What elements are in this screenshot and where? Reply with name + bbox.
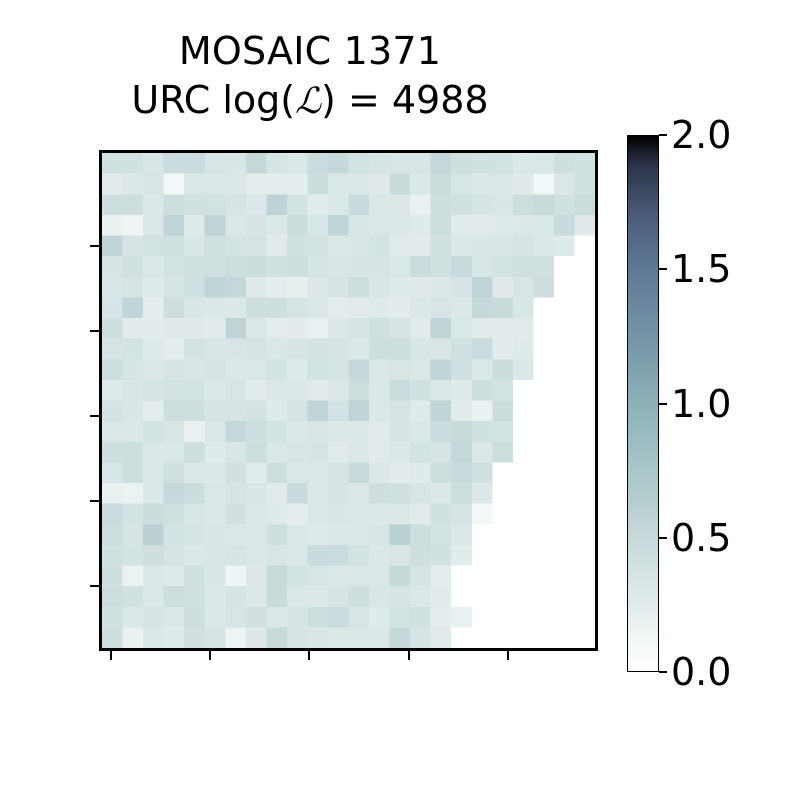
colorbar-tick-2 [659,403,667,405]
title-block: MOSAIC 1371 URC log(ℒ) = 4988 [0,28,620,126]
colorbar-tick-1 [659,268,667,270]
x-axis-tick-3 [408,651,410,660]
colorbar-gradient [627,135,659,672]
colorbar-tick-label-3: 0.5 [671,519,731,557]
heatmap-axes[interactable] [99,150,598,651]
x-axis-tick-0 [110,651,112,660]
y-axis-tick-2 [90,415,99,417]
page-title: MOSAIC 1371 [0,28,620,74]
y-axis-tick-1 [90,330,99,332]
y-axis-tick-3 [90,500,99,502]
colorbar[interactable] [627,135,659,672]
colorbar-tick-0 [659,134,667,136]
x-axis-tick-1 [209,651,211,660]
x-axis-tick-2 [308,651,310,660]
colorbar-tick-label-4: 0.0 [671,653,731,691]
colorbar-tick-3 [659,537,667,539]
colorbar-tick-label-0: 2.0 [671,116,731,154]
script-z-symbol: ℒ [295,81,321,122]
figure-canvas: MOSAIC 1371 URC log(ℒ) = 4988 2.01.51.00… [0,0,800,800]
x-axis-tick-4 [507,651,509,660]
colorbar-tick-label-1: 1.5 [671,250,731,288]
subtitle: URC log(ℒ) = 4988 [0,76,620,126]
y-axis-tick-4 [90,585,99,587]
colorbar-tick-4 [659,671,667,673]
subtitle-suffix: ) = 4988 [321,78,489,122]
colorbar-tick-label-2: 1.0 [671,385,731,423]
subtitle-prefix: URC log( [131,78,295,122]
y-axis-tick-0 [90,245,99,247]
heatmap-image [102,153,595,648]
